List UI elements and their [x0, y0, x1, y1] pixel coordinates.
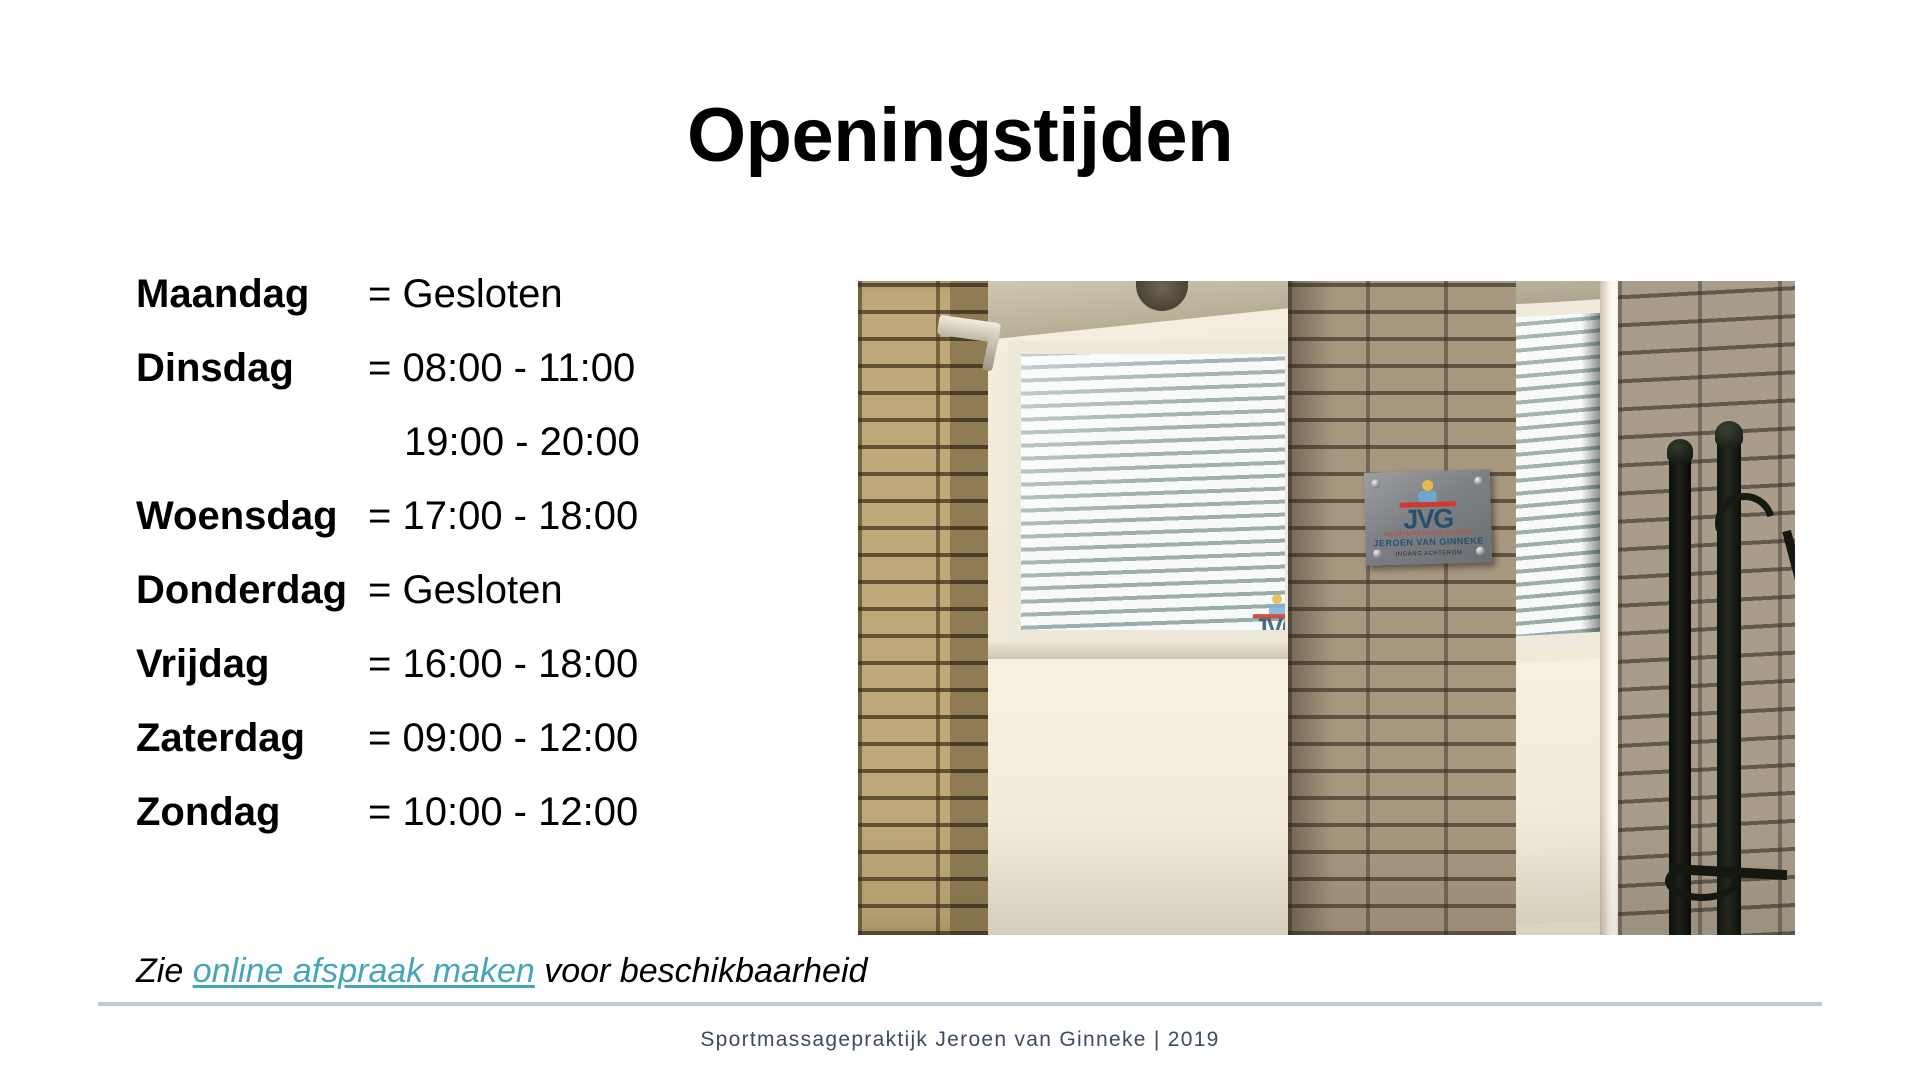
schedule-day-label: Zaterdag [136, 716, 368, 761]
schedule-day-label: Donderdag [136, 568, 368, 613]
schedule-row: Woensdag = 17:00 - 18:00 [136, 494, 826, 568]
schedule-hours-value: = Gesloten [368, 272, 563, 317]
schedule-hours-value: = 08:00 - 11:00 [368, 346, 635, 391]
schedule-row: Maandag = Gesloten [136, 272, 826, 346]
availability-note-prefix: Zie [136, 952, 193, 990]
schedule-day-label: Woensdag [136, 494, 368, 539]
schedule-row-continuation: 19:00 - 20:00 [136, 420, 826, 494]
jvg-logo-text: JVG [1365, 505, 1492, 533]
schedule-hours-value: = Gesloten [368, 568, 563, 613]
ground-shadow [858, 815, 1795, 935]
footer-divider [98, 1002, 1822, 1006]
window-left: JVG SPORTMASSAGEPRAKTIJK JEROEN VAN GINN… [1008, 341, 1298, 643]
practice-facade-photo: JVG SPORTMASSAGEPRAKTIJK JEROEN VAN GINN… [858, 281, 1795, 935]
opening-hours-list: Maandag = Gesloten Dinsdag = 08:00 - 11:… [136, 272, 826, 864]
schedule-row: Zaterdag = 09:00 - 12:00 [136, 716, 826, 790]
schedule-hours-value: = 09:00 - 12:00 [368, 716, 638, 761]
schedule-day-label: Maandag [136, 272, 368, 317]
footer-text: Sportmassagepraktijk Jeroen van Ginneke … [0, 1028, 1920, 1052]
schedule-row: Vrijdag = 16:00 - 18:00 [136, 642, 826, 716]
schedule-day-label: Vrijdag [136, 642, 368, 687]
glass-reflection-left [1021, 354, 1285, 630]
schedule-row: Zondag = 10:00 - 12:00 [136, 790, 826, 864]
schedule-hours-value: 19:00 - 20:00 [368, 420, 640, 465]
masseur-head-icon [1422, 480, 1433, 491]
plaque-line-2: JEROEN VAN GINNEKE [1366, 536, 1492, 549]
plaque-content: JVG SPORTMASSAGEPRAKTIJK JEROEN VAN GINN… [1364, 478, 1492, 559]
availability-note-suffix: voor beschikbaarheid [535, 952, 868, 990]
name-plaque: JVG SPORTMASSAGEPRAKTIJK JEROEN VAN GINN… [1364, 469, 1492, 565]
schedule-hours-value: = 17:00 - 18:00 [368, 494, 638, 539]
schedule-day-label: Dinsdag [136, 346, 368, 391]
schedule-hours-value: = 10:00 - 12:00 [368, 790, 638, 835]
gate-finial-icon [1715, 421, 1743, 447]
schedule-day-label: Zondag [136, 790, 368, 835]
schedule-row: Donderdag = Gesloten [136, 568, 826, 642]
schedule-hours-value: = 16:00 - 18:00 [368, 642, 638, 687]
plaque-line-3: INGANG ACHTEROM [1366, 550, 1492, 559]
online-appointment-link[interactable]: online afspraak maken [193, 952, 535, 990]
schedule-row: Dinsdag = 08:00 - 11:00 [136, 346, 826, 420]
page-title: Openingstijden [0, 96, 1920, 176]
availability-note: Zie online afspraak maken voor beschikba… [136, 952, 867, 991]
window-sill-left [976, 643, 1306, 659]
gate-finial-icon [1667, 439, 1693, 463]
